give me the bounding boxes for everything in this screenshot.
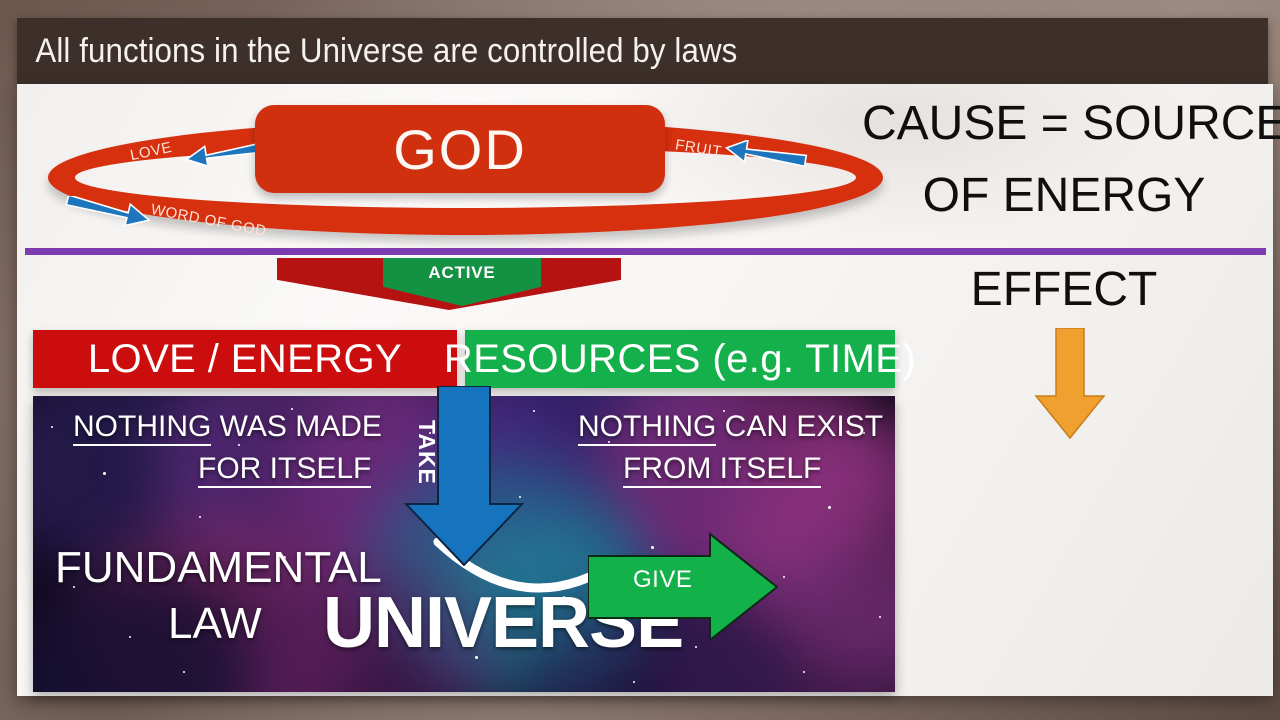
bar-resources-label: RESOURCES (e.g. TIME) (444, 337, 916, 382)
take-label: TAKE (413, 420, 440, 485)
cause-line1: CAUSE = SOURCE (862, 96, 1266, 151)
give-label: GIVE (633, 566, 692, 594)
active-label: ACTIVE (428, 258, 495, 283)
left-statement-line2-text: FOR ITSELF (198, 452, 371, 488)
effect-down-arrow-icon (1034, 328, 1106, 440)
bar-love-energy-label: LOVE / ENERGY (88, 337, 402, 382)
word-of-god-arrow-icon (62, 196, 154, 231)
god-label: GOD (393, 117, 527, 182)
right-statement-line2: FROM ITSELF (623, 452, 821, 486)
slide-canvas: All functions in the Universe are contro… (0, 0, 1280, 720)
law-text: LAW (168, 599, 262, 649)
bar-love-energy: LOVE / ENERGY (33, 330, 457, 388)
effect-line: EFFECT (862, 262, 1266, 317)
slide-title-bar: All functions in the Universe are contro… (17, 18, 1268, 84)
god-box: GOD (255, 105, 665, 193)
left-statement-line1: NOTHING WAS MADE (73, 410, 382, 444)
bar-resources: RESOURCES (e.g. TIME) (465, 330, 895, 388)
right-statement-emphasis: NOTHING (578, 410, 716, 446)
cause-effect-divider (25, 248, 1266, 255)
left-statement-rest: WAS MADE (211, 410, 382, 443)
right-statement-rest: CAN EXIST (716, 410, 883, 443)
slide-title: All functions in the Universe are contro… (17, 32, 737, 71)
right-statement-line2-text: FROM ITSELF (623, 452, 821, 488)
cause-line2: OF ENERGY (862, 168, 1266, 223)
fruit-arrow-icon (722, 140, 808, 173)
right-statement-line1: NOTHING CAN EXIST (578, 410, 883, 444)
left-statement-emphasis: NOTHING (73, 410, 211, 446)
left-statement-line2: FOR ITSELF (198, 452, 371, 486)
